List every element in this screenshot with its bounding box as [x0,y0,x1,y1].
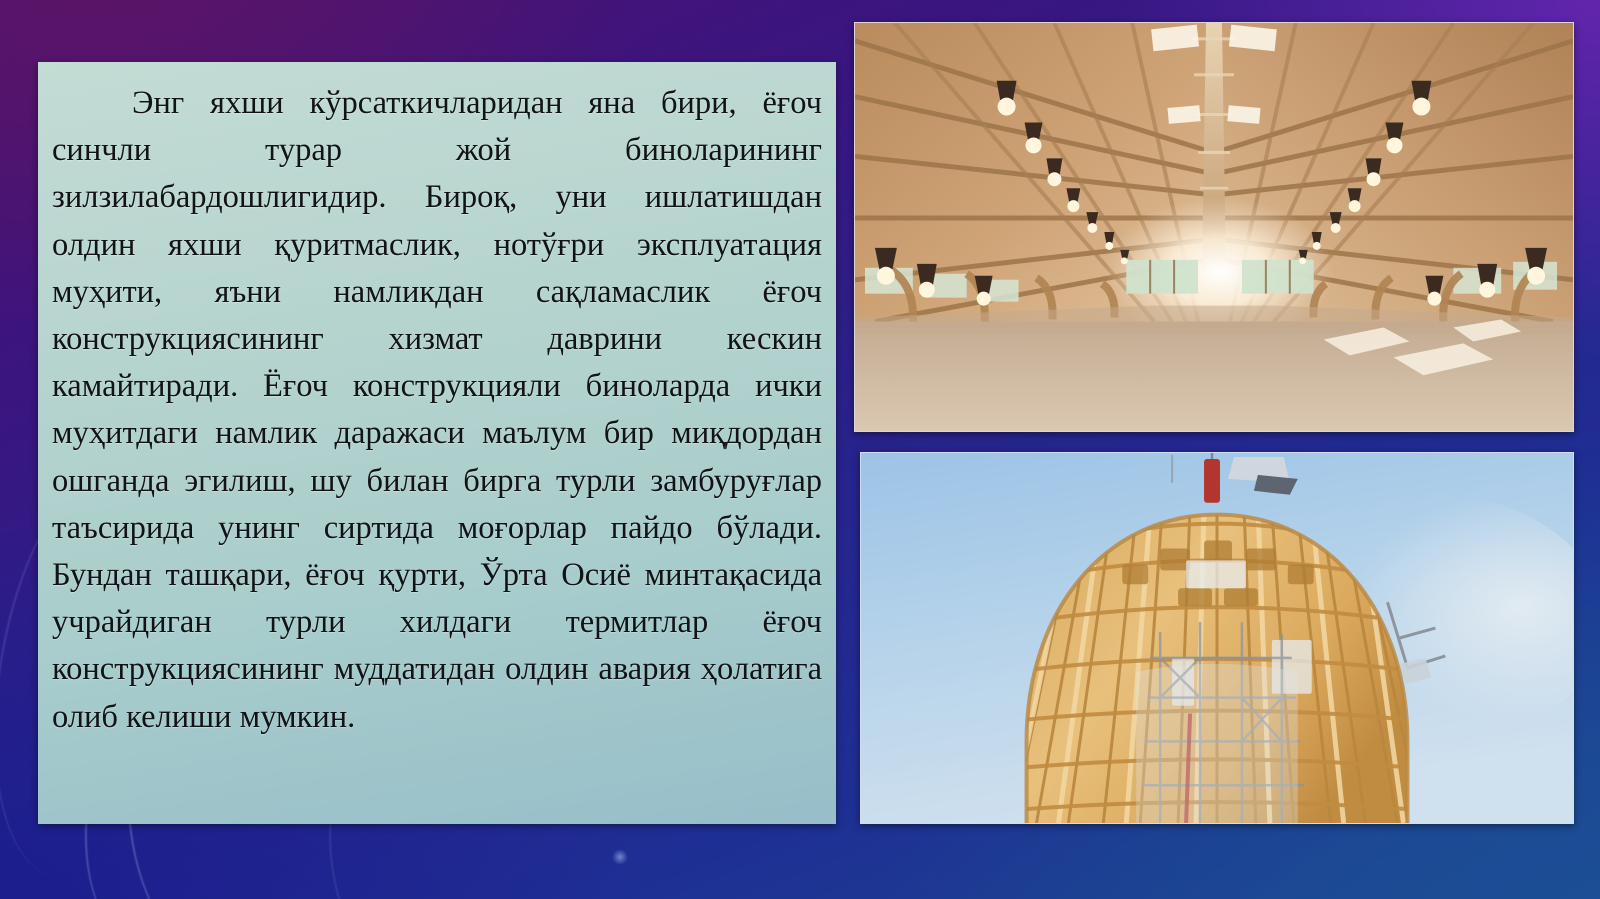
body-paragraph: Энг яхши кўрсаткичларидан яна бири, ёғоч… [52,80,822,741]
photo-wooden-dome-construction [860,452,1574,824]
slide-canvas: Энг яхши кўрсаткичларидан яна бири, ёғоч… [0,0,1600,899]
wooden-hall-illustration [855,23,1573,431]
text-panel: Энг яхши кўрсаткичларидан яна бири, ёғоч… [38,62,836,824]
wooden-dome-illustration [861,453,1573,823]
decorative-glow-dot [612,849,628,865]
photo-wooden-hall-interior [854,22,1574,432]
